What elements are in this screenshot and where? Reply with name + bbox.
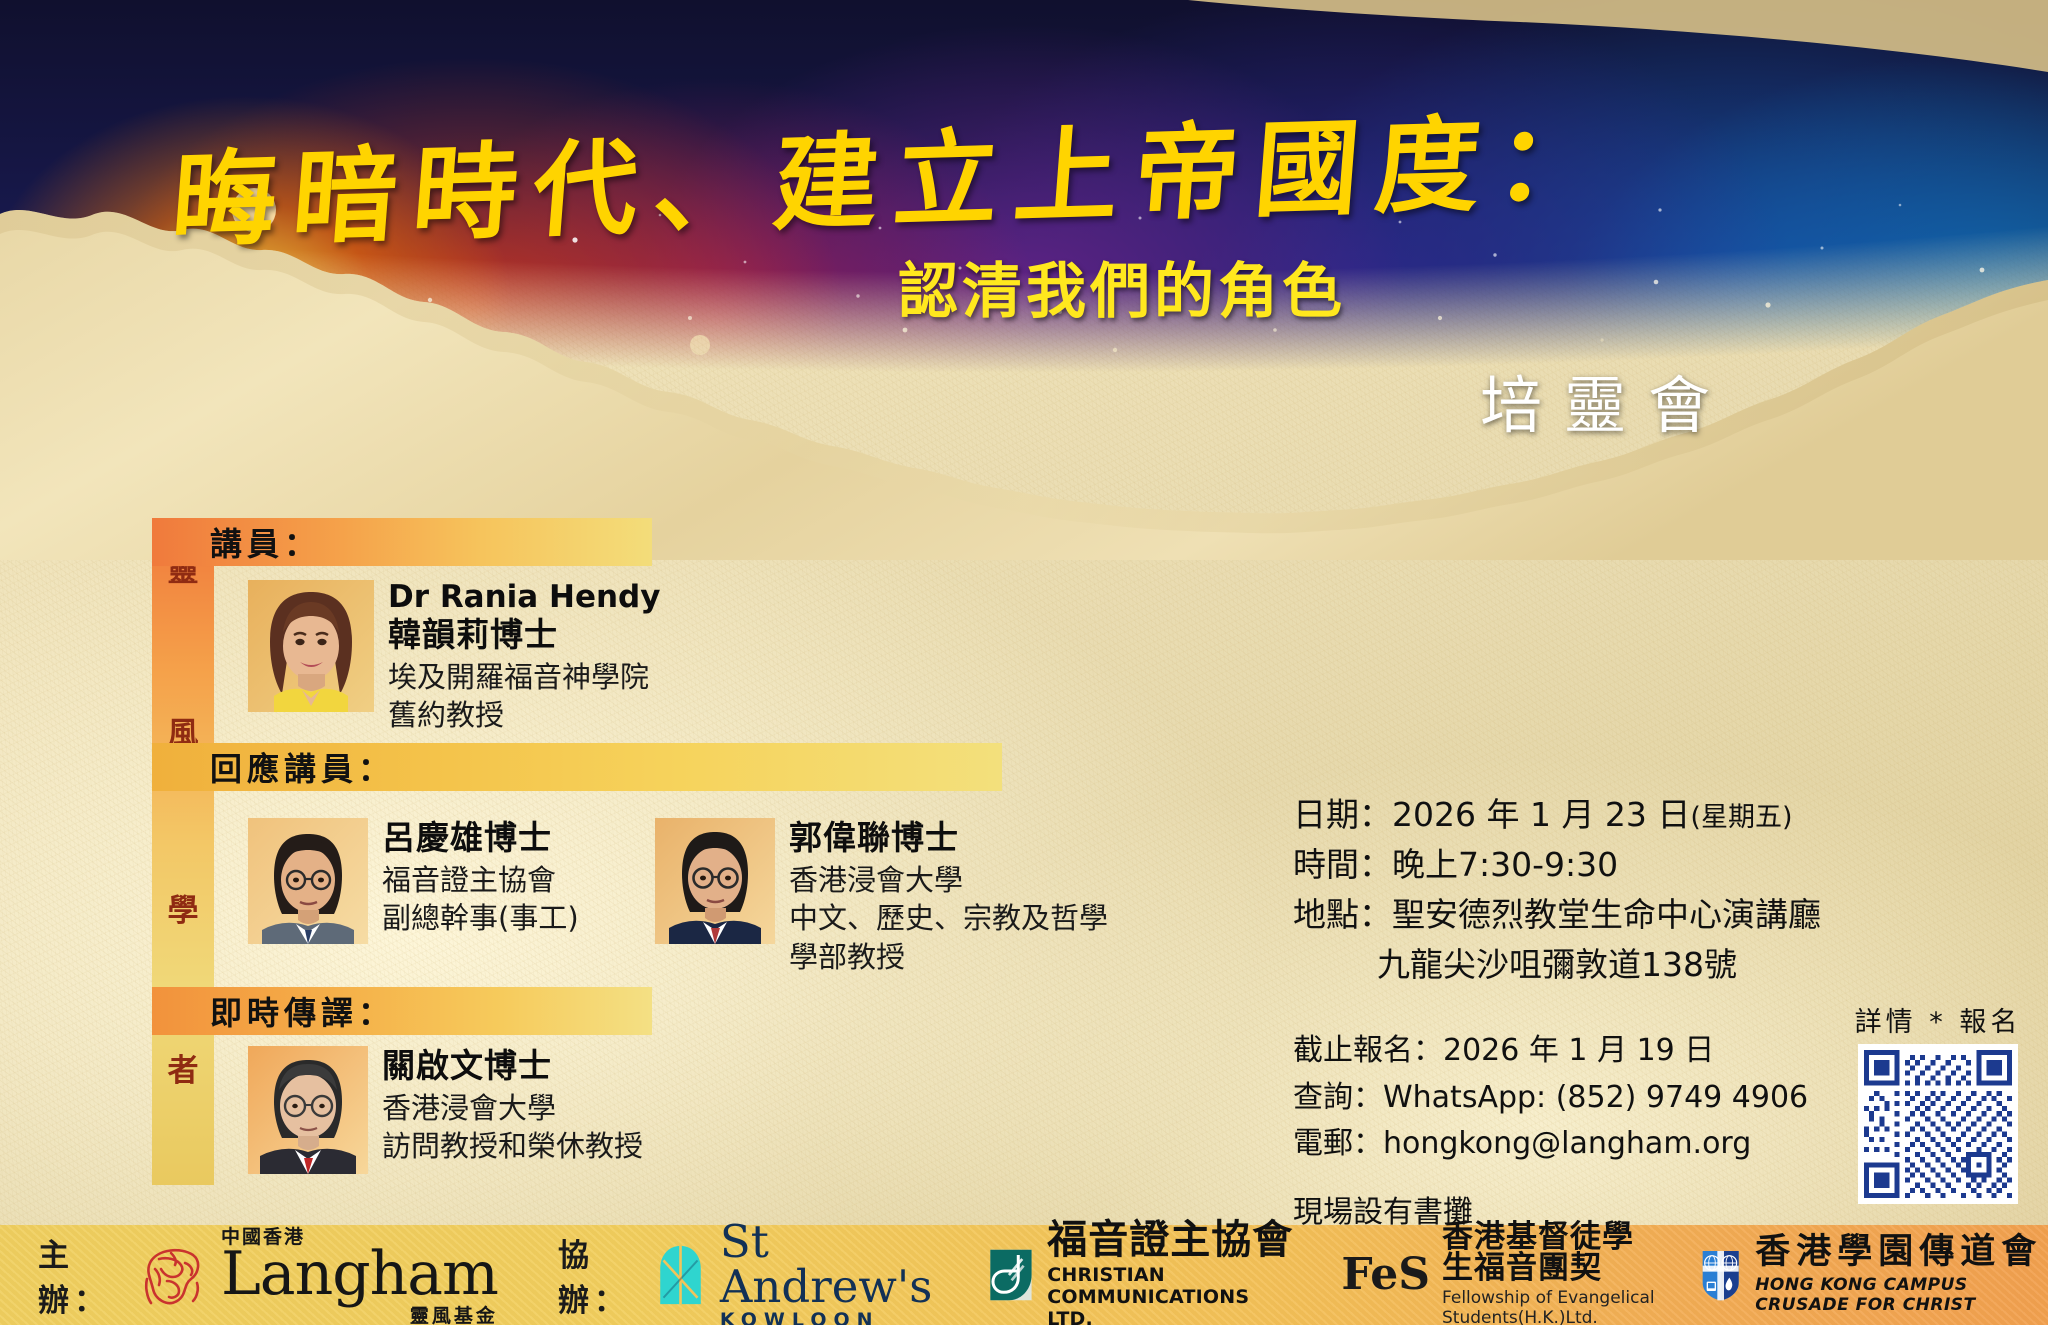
interpreter-name: 關啟文博士 — [382, 1046, 643, 1086]
registration-deadline-row: 截止報名：2026 年 1 月 19 日 — [1293, 1028, 1808, 1075]
responder-section-banner: 回應講員： — [152, 743, 1002, 791]
speaker-main-affiliation-2: 舊約教授 — [388, 696, 660, 735]
portrait-kwan-kai-man — [248, 1046, 368, 1174]
logo-langham[interactable]: 中國香港 Langham 靈風基金 — [137, 1222, 498, 1325]
responder-2-affiliation-2: 中文、歷史、宗教及哲學 — [789, 899, 1108, 938]
qr-label: 詳情 * 報名 — [1838, 1000, 2038, 1039]
speaker-section-banner: 講員： — [152, 518, 652, 566]
responder-2-affiliation-3: 學部教授 — [789, 938, 1108, 977]
speaker-main-photo — [248, 580, 374, 712]
langham-wordmark: Langham — [221, 1249, 498, 1301]
ccl-name-zh: 福音證主協會 — [1047, 1220, 1299, 1260]
logo-st-andrews[interactable]: St Andrew's KOWLOON — [657, 1219, 943, 1325]
speaker-main-name-zh: 韓韻莉博士 — [388, 615, 660, 655]
responder-1-affiliation-2: 副總幹事(事工) — [382, 899, 579, 938]
event-date-weekday: (星期五) — [1690, 802, 1792, 833]
portrait-kwok-wai-luen — [655, 818, 775, 944]
registration-deadline-label: 截止報名： — [1293, 1033, 1443, 1068]
hkccc-name-en: HONG KONG CAMPUS CRUSADE FOR CHRIST — [1755, 1275, 2048, 1315]
qr-code[interactable] — [1858, 1044, 2018, 1204]
speaker-main-name-en: Dr Rania Hendy — [388, 580, 660, 615]
event-time-label: 時間： — [1293, 845, 1392, 884]
logo-ccl[interactable]: 福音證主協會 CHRISTIAN COMMUNICATIONS LTD. — [989, 1220, 1299, 1325]
poster-subtitle: 認清我們的角色 — [898, 243, 1346, 330]
registration-whatsapp-value[interactable]: WhatsApp: (852) 9749 4906 — [1383, 1080, 1808, 1115]
registration-deadline-value: 2026 年 1 月 19 日 — [1443, 1033, 1714, 1068]
qr-code-icon[interactable] — [1864, 1050, 2012, 1198]
interpreter-section-banner: 即時傳譯： — [152, 987, 652, 1035]
interpreter-affiliation-1: 香港浸會大學 — [382, 1089, 643, 1128]
speaker-main: Dr Rania Hendy 韓韻莉博士 埃及開羅福音神學院 舊約教授 — [248, 580, 660, 735]
registration-email-row: 電郵：hongkong@langham.org — [1293, 1121, 1808, 1168]
logo-hkccc[interactable]: 香港學園傳道會 HONG KONG CAMPUS CRUSADE FOR CHR… — [1700, 1235, 2048, 1315]
responder-2-affiliation-1: 香港浸會大學 — [789, 861, 1108, 900]
event-date-row: 日期：2026 年 1 月 23 日(星期五) — [1293, 790, 1821, 840]
event-venue-label: 地點： — [1293, 895, 1392, 934]
responder-1-name: 呂慶雄博士 — [382, 818, 579, 858]
responder-1: 呂慶雄博士 福音證主協會 副總幹事(事工) — [248, 818, 579, 944]
organiser-label: 主辦： — [38, 1230, 111, 1320]
registration-enquiry-row: 查詢：WhatsApp: (852) 9749 4906 — [1293, 1075, 1808, 1122]
event-venue-row: 地點：聖安德烈教堂生命中心演講廳 — [1293, 890, 1821, 940]
logo-fes[interactable]: FeS 香港基督徒學生福音團契 Fellowship of Evangelica… — [1341, 1222, 1661, 1325]
fes-wordmark: FeS — [1341, 1253, 1430, 1297]
event-time-value: 晚上7:30-9:30 — [1392, 845, 1618, 884]
st-andrews-window-icon — [657, 1237, 704, 1313]
vertical-side-tab: 靈 風 學 者 — [152, 525, 214, 1185]
hkccc-shield-icon — [1700, 1235, 1741, 1315]
side-tab-char-4: 者 — [152, 1045, 214, 1090]
coorganiser-label: 協辦： — [558, 1230, 631, 1320]
portrait-lui-hing-hung — [248, 818, 368, 944]
qr-section: 詳情 * 報名 — [1838, 1000, 2038, 1204]
side-tab-char-3: 學 — [152, 885, 214, 930]
registration-details: 截止報名：2026 年 1 月 19 日 查詢：WhatsApp: (852) … — [1293, 1028, 1808, 1236]
registration-email-value[interactable]: hongkong@langham.org — [1383, 1126, 1751, 1161]
responder-2-info: 郭偉聯博士 香港浸會大學 中文、歷史、宗教及哲學 學部教授 — [775, 818, 1108, 976]
registration-email-label: 電郵： — [1293, 1126, 1383, 1161]
interpreter-photo — [248, 1046, 368, 1174]
registration-enquiry-label: 查詢： — [1293, 1080, 1383, 1115]
event-details: 日期：2026 年 1 月 23 日(星期五) 時間：晚上7:30-9:30 地… — [1293, 790, 1821, 991]
event-kind-label: 培靈會 — [1480, 355, 1732, 445]
event-time-row: 時間：晚上7:30-9:30 — [1293, 840, 1821, 890]
speaker-main-info: Dr Rania Hendy 韓韻莉博士 埃及開羅福音神學院 舊約教授 — [374, 580, 660, 735]
fes-name-zh: 香港基督徒學生福音團契 — [1442, 1222, 1662, 1284]
langham-globe-icon — [137, 1239, 209, 1311]
hkccc-name-zh: 香港學園傳道會 — [1755, 1235, 2048, 1270]
event-date-value: 2026 年 1 月 23 日 — [1392, 795, 1690, 834]
fes-name-en: Fellowship of Evangelical Students(H.K.)… — [1442, 1288, 1662, 1325]
st-andrews-wordmark: St Andrew's — [720, 1219, 943, 1309]
responder-1-photo — [248, 818, 368, 944]
event-date-label: 日期： — [1293, 795, 1392, 834]
portrait-rania-hendy — [248, 580, 374, 712]
responder-2-name: 郭偉聯博士 — [789, 818, 1108, 858]
responder-1-affiliation-1: 福音證主協會 — [382, 861, 579, 900]
interpreter: 關啟文博士 香港浸會大學 訪問教授和榮休教授 — [248, 1046, 643, 1174]
interpreter-info: 關啟文博士 香港浸會大學 訪問教授和榮休教授 — [368, 1046, 643, 1174]
poster-root: 晦暗時代、建立上帝國度： 認清我們的角色 培靈會 靈 風 學 者 講員： — [0, 0, 2048, 1325]
ccl-name-en: CHRISTIAN COMMUNICATIONS LTD. — [1047, 1264, 1299, 1325]
speaker-main-affiliation-1: 埃及開羅福音神學院 — [388, 658, 660, 697]
responder-1-info: 呂慶雄博士 福音證主協會 副總幹事(事工) — [368, 818, 579, 944]
interpreter-affiliation-2: 訪問教授和榮休教授 — [382, 1127, 643, 1166]
responder-2-photo — [655, 818, 775, 944]
ccl-emblem-icon — [989, 1235, 1033, 1315]
sponsor-footer: 主辦： 中國香港 Langham 靈風基金 協辦： — [0, 1225, 2048, 1325]
event-address-row: 九龍尖沙咀彌敦道138號 — [1293, 940, 1821, 990]
event-venue-value: 聖安德烈教堂生命中心演講廳 — [1392, 895, 1821, 934]
responder-2: 郭偉聯博士 香港浸會大學 中文、歷史、宗教及哲學 學部教授 — [655, 818, 1108, 976]
